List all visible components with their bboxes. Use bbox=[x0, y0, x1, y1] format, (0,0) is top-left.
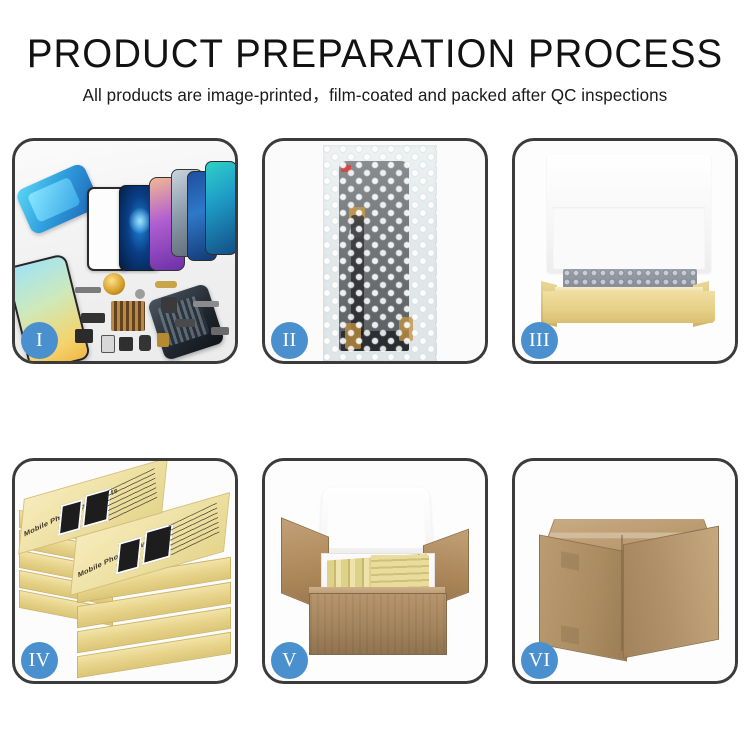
process-step-panel-6: VI bbox=[512, 458, 738, 684]
spare-part-icon bbox=[139, 335, 151, 351]
page-subtitle: All products are image-printed，film-coat… bbox=[11, 76, 739, 106]
process-step-panel-2: II bbox=[262, 138, 488, 364]
carton-left-face-icon bbox=[539, 534, 627, 661]
page-header: PRODUCT PREPARATION PROCESS All products… bbox=[0, 0, 750, 128]
spare-part-icon bbox=[193, 301, 219, 307]
teal-screen-icon bbox=[205, 161, 235, 255]
yellow-tray-icon bbox=[543, 291, 715, 323]
spare-part-icon bbox=[161, 297, 177, 313]
process-step-panel-1: I bbox=[12, 138, 238, 364]
bubble-wrap-bag-icon bbox=[323, 145, 437, 361]
spare-part-icon bbox=[135, 289, 145, 299]
process-step-grid: I II bbox=[12, 138, 738, 684]
carton-front-panel-icon bbox=[309, 593, 447, 655]
bubble-texture-icon bbox=[323, 145, 437, 361]
foam-lid-icon bbox=[318, 488, 433, 558]
spare-part-icon bbox=[157, 333, 169, 347]
spare-part-icon bbox=[175, 319, 195, 327]
page-title: PRODUCT PREPARATION PROCESS bbox=[15, 0, 735, 76]
step-badge-6: VI bbox=[521, 642, 558, 679]
process-step-panel-3: III bbox=[512, 138, 738, 364]
spare-part-icon bbox=[119, 337, 133, 351]
box-spec-text-icon bbox=[169, 503, 220, 558]
step-badge-3: III bbox=[521, 322, 558, 359]
spare-part-icon bbox=[155, 281, 177, 288]
spare-part-icon bbox=[211, 327, 229, 335]
process-step-panel-4: Mobile Phone Spare Parts Mobile Phone Sp… bbox=[12, 458, 238, 684]
box-spec-text-icon bbox=[106, 468, 157, 523]
spare-part-icon bbox=[75, 287, 101, 293]
carton-corner-seam-icon bbox=[621, 535, 623, 651]
carton-tape-patch-icon bbox=[561, 625, 579, 644]
carton-right-face-icon bbox=[623, 526, 719, 659]
carton-tape-patch-icon bbox=[561, 551, 579, 570]
box-screen-print-icon bbox=[116, 536, 142, 575]
step-badge-1: I bbox=[21, 322, 58, 359]
step-badge-4: IV bbox=[21, 642, 58, 679]
box-screen-print-icon bbox=[58, 499, 83, 536]
spare-part-icon bbox=[81, 313, 105, 323]
white-foam-sheet-icon bbox=[547, 155, 711, 273]
step-badge-5: V bbox=[271, 642, 308, 679]
chip-grid-part-icon bbox=[111, 301, 145, 331]
process-step-panel-5: V bbox=[262, 458, 488, 684]
spare-part-icon bbox=[75, 329, 93, 343]
step-badge-2: II bbox=[271, 322, 308, 359]
gold-coil-part-icon bbox=[103, 273, 125, 295]
spare-part-icon bbox=[101, 335, 115, 353]
